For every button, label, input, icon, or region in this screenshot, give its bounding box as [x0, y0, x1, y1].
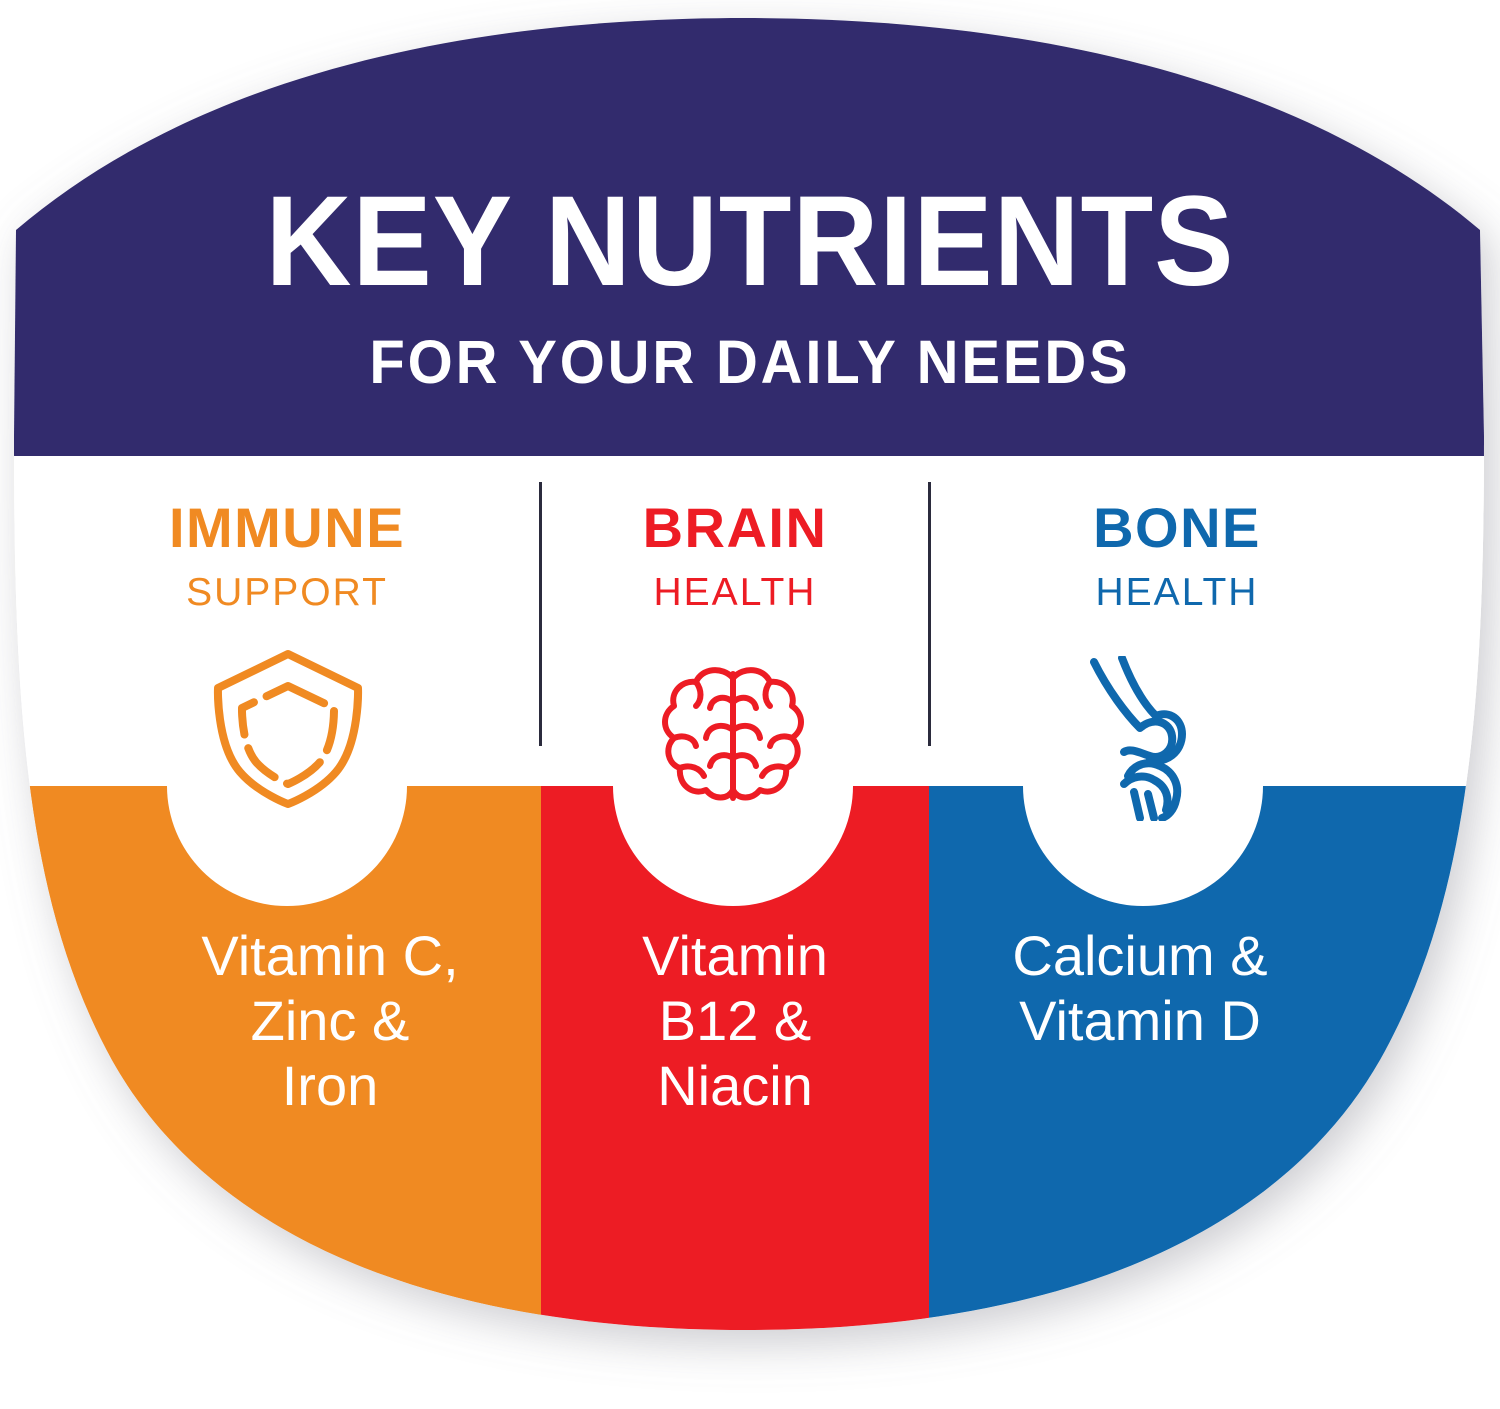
column-header-immune: IMMUNE SUPPORT: [72, 500, 502, 612]
nutrient-list-bone: Calcium & Vitamin D: [940, 924, 1340, 1054]
page-subtitle: FOR YOUR DAILY NEEDS: [38, 332, 1463, 393]
column-header-bone: BONE HEALTH: [962, 500, 1392, 612]
nutrient-list-brain: Vitamin B12 & Niacin: [545, 924, 925, 1119]
infographic-shield: KEY NUTRIENTS FOR YOUR DAILY NEEDS IMMUN…: [0, 0, 1500, 1409]
nutrient-list-immune: Vitamin C, Zinc & Iron: [130, 924, 530, 1119]
column-header-brain: BRAIN HEALTH: [520, 500, 950, 612]
column-subtitle-immune: SUPPORT: [72, 573, 502, 612]
column-title-bone: BONE: [962, 500, 1392, 556]
header-block: KEY NUTRIENTS FOR YOUR DAILY NEEDS: [0, 178, 1500, 393]
column-subtitle-brain: HEALTH: [520, 573, 950, 612]
bone-joint-icon: [1078, 656, 1208, 821]
column-title-brain: BRAIN: [520, 500, 950, 556]
shield-icon: [212, 648, 364, 808]
column-title-immune: IMMUNE: [72, 500, 502, 556]
column-subtitle-bone: HEALTH: [962, 573, 1392, 612]
brain-icon: [658, 660, 808, 805]
page-title: KEY NUTRIENTS: [53, 178, 1448, 306]
